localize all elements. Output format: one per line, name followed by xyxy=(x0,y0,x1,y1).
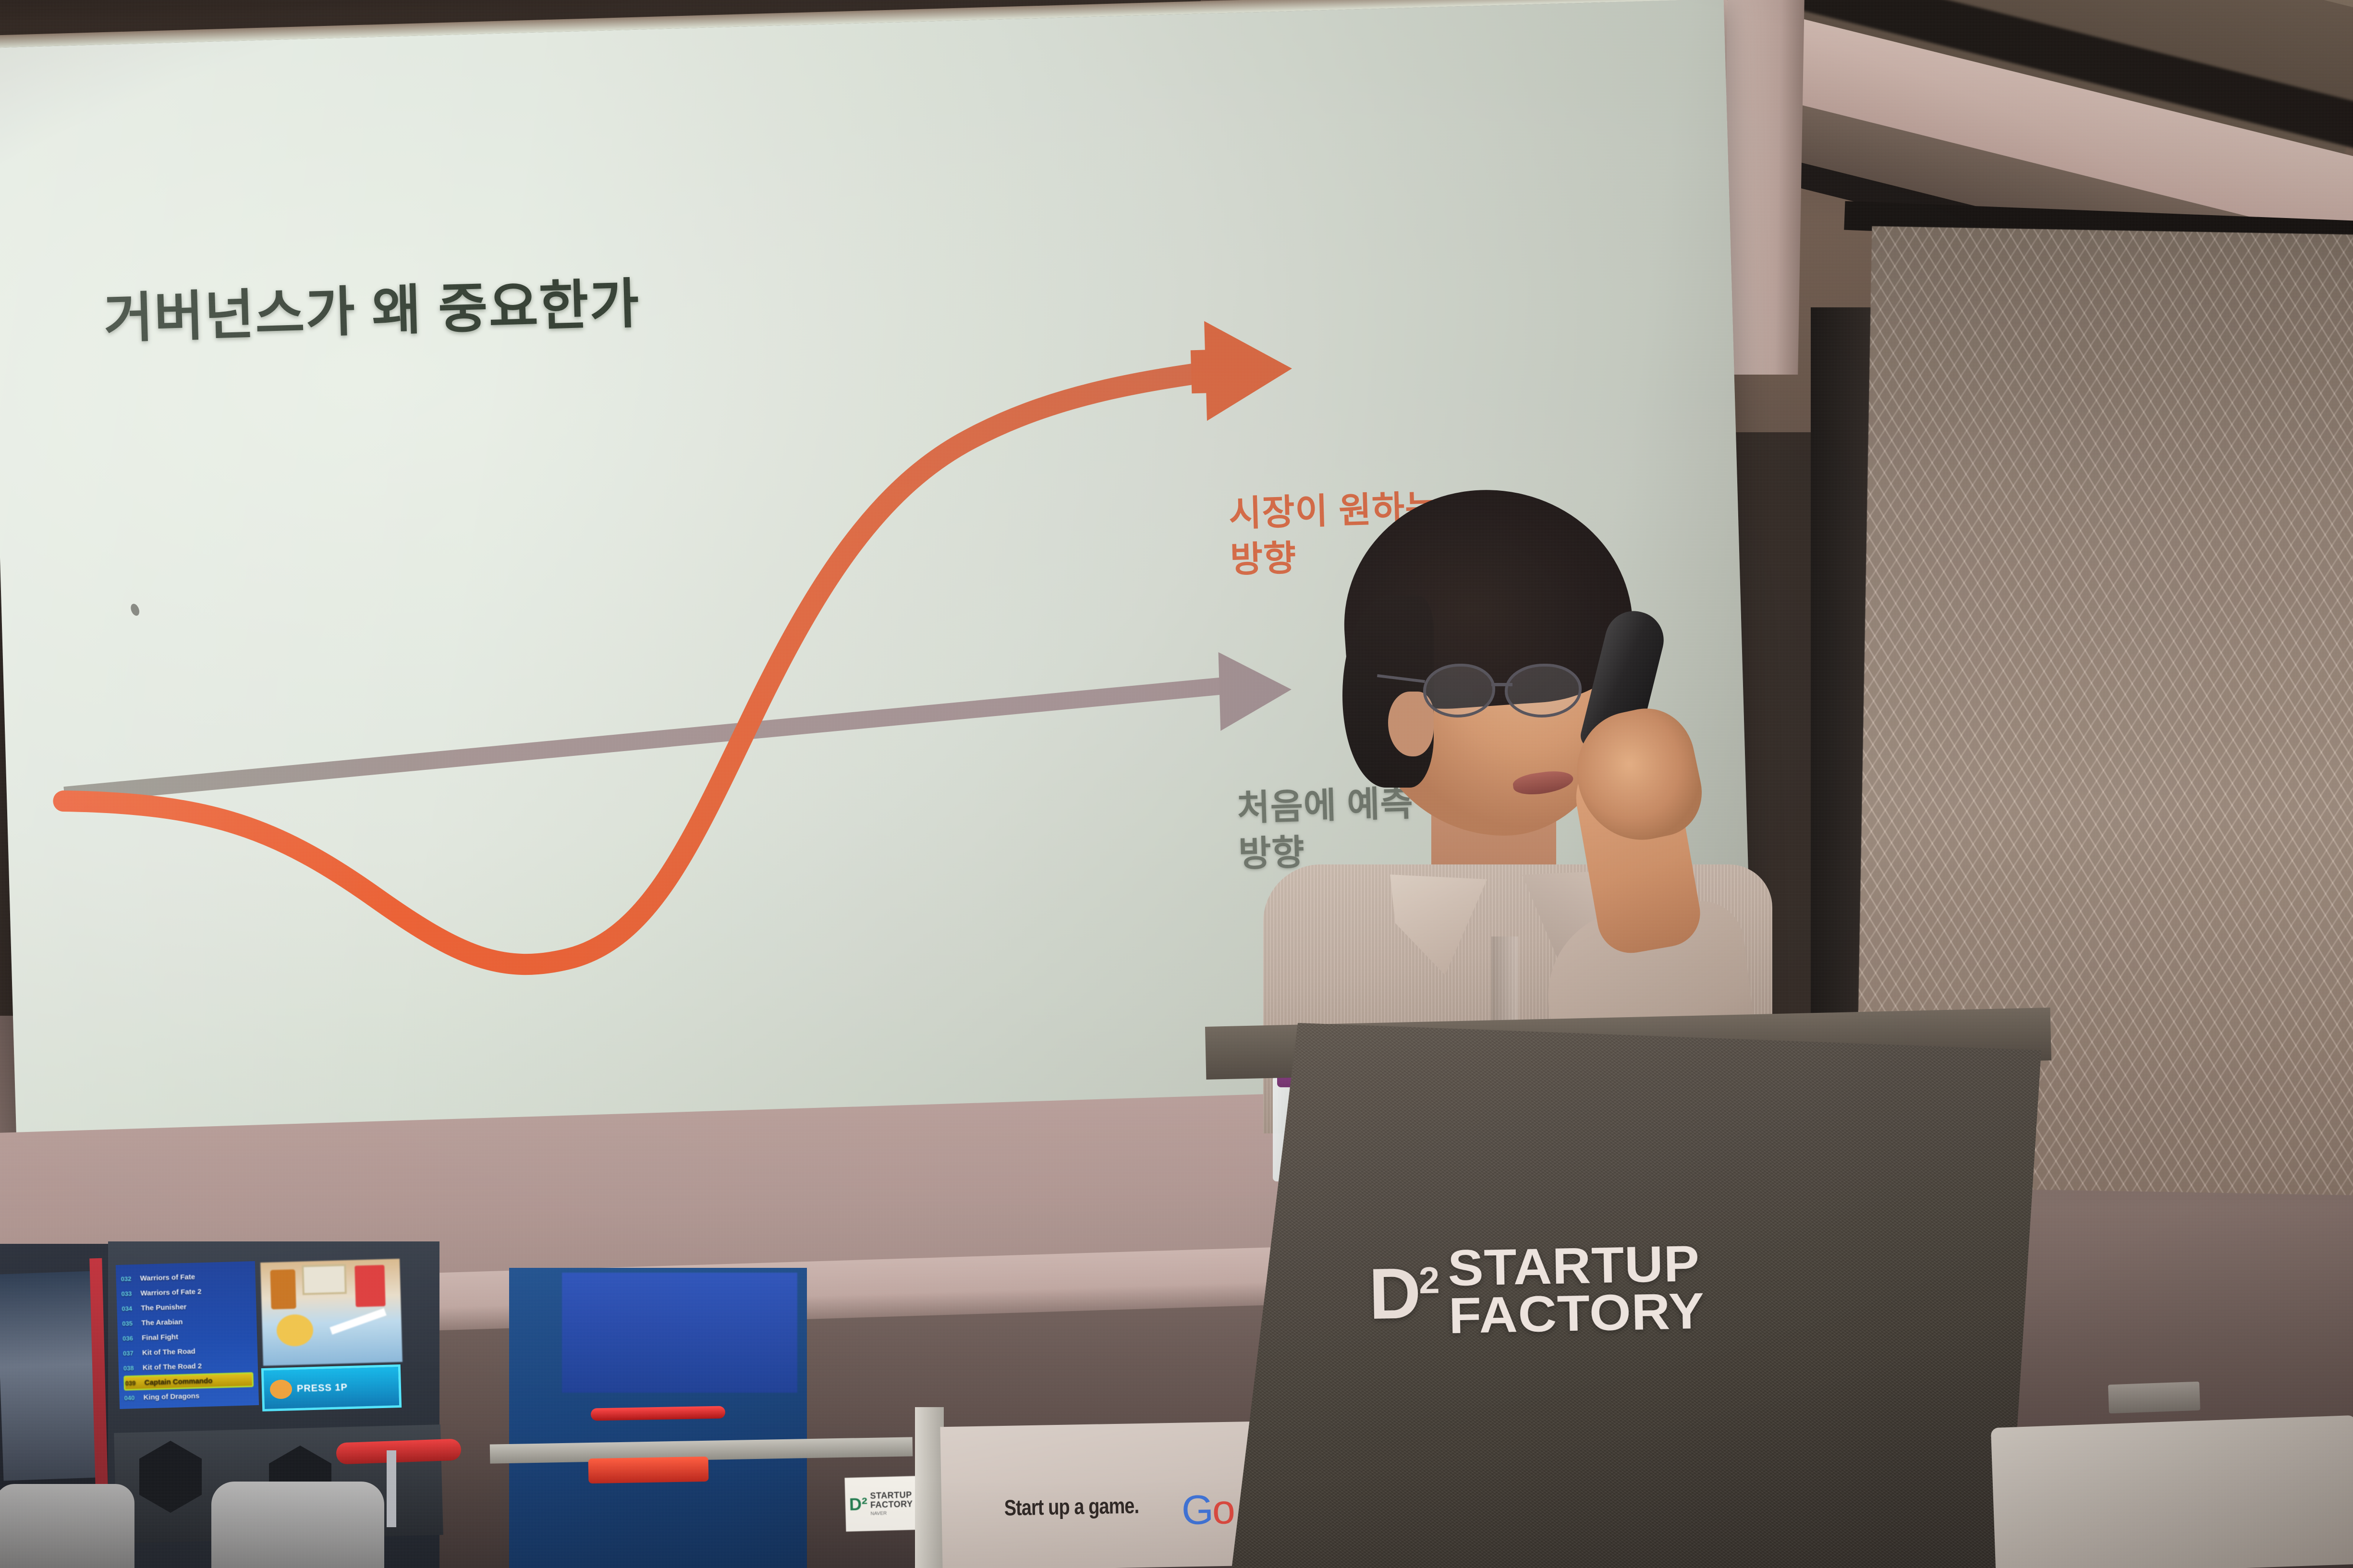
arcade-game-list[interactable]: 032 Warriors of Fate 033 Warriors of Fat… xyxy=(116,1261,259,1409)
list-item[interactable]: 040 King of Dragons xyxy=(124,1387,254,1406)
arcade-game-preview xyxy=(260,1259,402,1366)
arcade-joystick-bar[interactable] xyxy=(336,1438,461,1464)
arcade-button-row-upper[interactable] xyxy=(591,1406,725,1421)
arcade-joystick-shaft[interactable] xyxy=(387,1450,396,1527)
divider-post xyxy=(915,1407,944,1568)
equipment-box-right xyxy=(1991,1415,2353,1568)
chair-left xyxy=(0,1484,134,1568)
arcade-coin-icon xyxy=(269,1379,292,1399)
podium-side-plate xyxy=(2108,1382,2200,1414)
cabinet-blue-upper xyxy=(562,1273,797,1393)
presentation-photo: 거버넌스가 왜 중요한가 xyxy=(0,0,2353,1568)
google-logo: Go xyxy=(1181,1486,1234,1534)
arcade-status-bar: PRESS 1P xyxy=(261,1364,402,1411)
arcade-button-row-lower[interactable] xyxy=(588,1457,709,1483)
d2-logo-mark: D2 xyxy=(1368,1260,1439,1326)
podium-logo-line2: FACTORY xyxy=(1448,1288,1705,1340)
wall-pillar xyxy=(1721,0,1804,375)
poster-tagline: Start up a game. xyxy=(1004,1493,1139,1521)
chair-right xyxy=(211,1482,384,1568)
arcade-screen-left xyxy=(0,1271,99,1481)
podium-brand-logo: D2 STARTUP FACTORY xyxy=(1367,1206,1827,1373)
